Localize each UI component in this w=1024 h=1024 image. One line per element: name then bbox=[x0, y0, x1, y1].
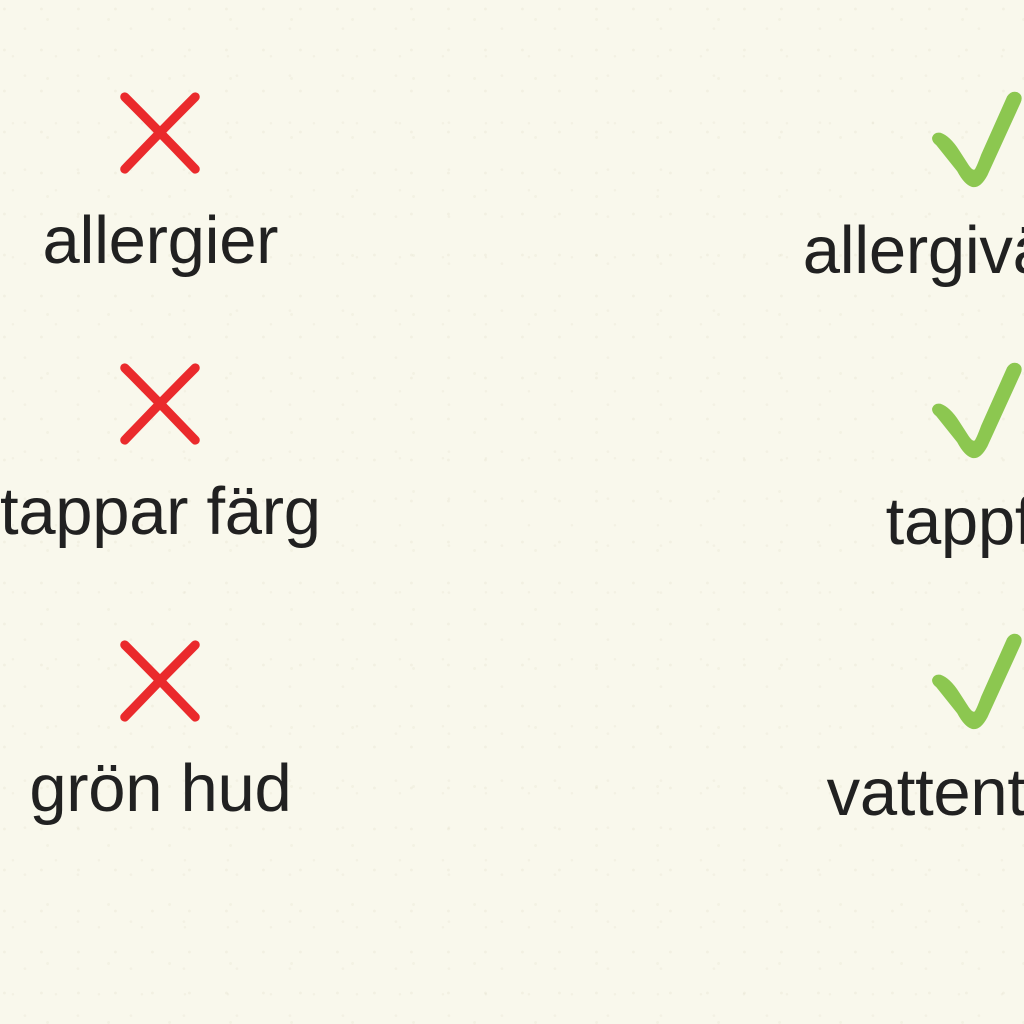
check-icon bbox=[926, 357, 1024, 461]
comparison-label: tappfri bbox=[886, 488, 1024, 555]
comparison-board: allergier allergivänlig tappar färg tapp… bbox=[0, 0, 1024, 1024]
comparison-label: vattentålig bbox=[827, 759, 1024, 826]
comparison-cell-negative-1: allergier bbox=[0, 86, 575, 361]
check-icon bbox=[926, 628, 1024, 732]
check-icon bbox=[926, 86, 1024, 190]
comparison-label: grön hud bbox=[29, 755, 291, 822]
comparison-cell-negative-2: tappar färg bbox=[0, 361, 575, 636]
cross-icon bbox=[117, 638, 203, 724]
cross-icon bbox=[117, 90, 203, 176]
comparison-cell-positive-2: tappfri bbox=[575, 361, 1024, 636]
comparison-label: allergier bbox=[43, 207, 279, 274]
comparison-label: allergivänlig bbox=[803, 217, 1024, 284]
comparison-label: tappar färg bbox=[0, 478, 321, 545]
comparison-cell-positive-3: vattentålig bbox=[575, 636, 1024, 911]
comparison-cell-positive-1: allergivänlig bbox=[575, 86, 1024, 361]
comparison-cell-negative-3: grön hud bbox=[0, 636, 575, 911]
cross-icon bbox=[117, 361, 203, 447]
